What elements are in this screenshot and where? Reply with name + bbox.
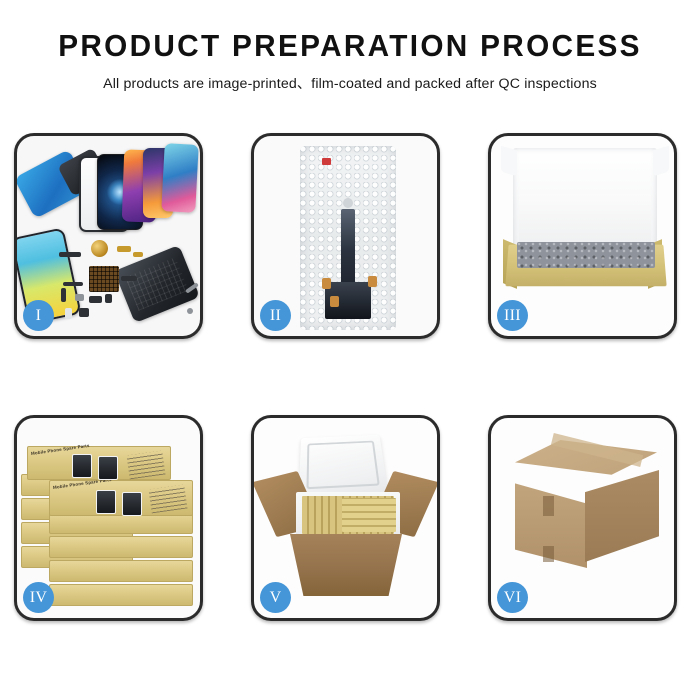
logic-board-part [89,266,119,292]
step-panel-3: III [488,133,677,339]
small-part [75,294,84,301]
stacked-box-printed: Mobile Phone Spare Parts [49,480,193,516]
step-badge-6: VI [497,582,528,613]
gold-contact-tab [330,296,339,307]
step-panel-2: II [251,133,440,339]
step-panel-1: I [14,133,203,339]
small-part [59,252,81,257]
yellow-boxes-row [342,498,396,532]
small-part [117,246,131,252]
gold-contact-tab [322,278,331,289]
page-subtitle: All products are image-printed、film-coat… [0,73,700,93]
small-part [121,276,137,281]
shipping-carton-body [290,534,402,596]
box-artwork-swatch [72,454,92,478]
red-label-mark [322,158,331,165]
step-badge-2: II [260,300,291,331]
process-steps-grid: I II III [14,133,686,621]
box-artwork-swatch [98,456,118,480]
step-panel-4: Mobile Phone Spare Parts Mobile Phone Sp… [14,415,203,621]
grey-foam-padding [517,242,655,268]
step-badge-5: V [260,582,291,613]
small-part [79,308,89,317]
gold-contact-tab [368,276,377,287]
box-artwork-swatch [96,490,116,514]
carton-seam [543,496,554,516]
small-part [133,252,143,257]
page-header: PRODUCT PREPARATION PROCESS All products… [0,0,700,93]
styrofoam-lid [299,435,389,501]
step-badge-3: III [497,300,528,331]
step-badge-4: IV [23,582,54,613]
small-part [187,308,193,314]
small-part [61,288,66,302]
lcd-camera-module [343,198,353,208]
step-panel-5: V [251,415,440,621]
stacked-box-printed: Mobile Phone Spare Parts [27,446,171,480]
box-artwork-swatch [122,492,142,516]
page-title: PRODUCT PREPARATION PROCESS [14,30,686,63]
small-part [105,294,112,303]
box-spec-lines [127,451,166,480]
stacked-box [49,536,193,558]
stacked-box [49,584,193,606]
carton-side-face [585,470,659,562]
bubble-wrap-bag [300,146,396,330]
small-part [65,308,72,319]
stacked-box [49,560,193,582]
small-part [89,296,102,303]
box-spec-lines [149,485,188,514]
carton-seam [543,546,554,562]
step-panel-6: VI [488,415,677,621]
vibration-motor-part [91,240,108,257]
step-badge-1: I [23,300,54,331]
small-part [63,282,83,286]
phone-teal-gradient [161,143,199,213]
